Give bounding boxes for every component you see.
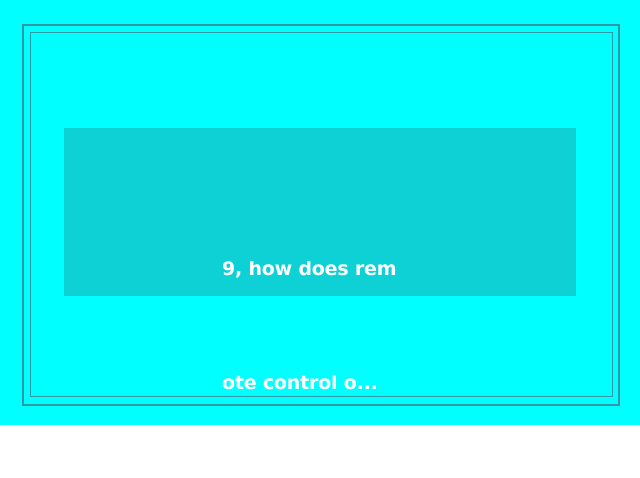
screenshot-canvas: 9, how does rem ote control o... bbox=[0, 0, 640, 425]
panel-text-line-1: 9, how does rem bbox=[222, 250, 542, 288]
panel-text-line-2: ote control o... bbox=[222, 364, 542, 402]
content-panel[interactable]: 9, how does rem ote control o... bbox=[64, 128, 576, 296]
panel-text-block: 9, how does rem ote control o... bbox=[222, 174, 542, 478]
